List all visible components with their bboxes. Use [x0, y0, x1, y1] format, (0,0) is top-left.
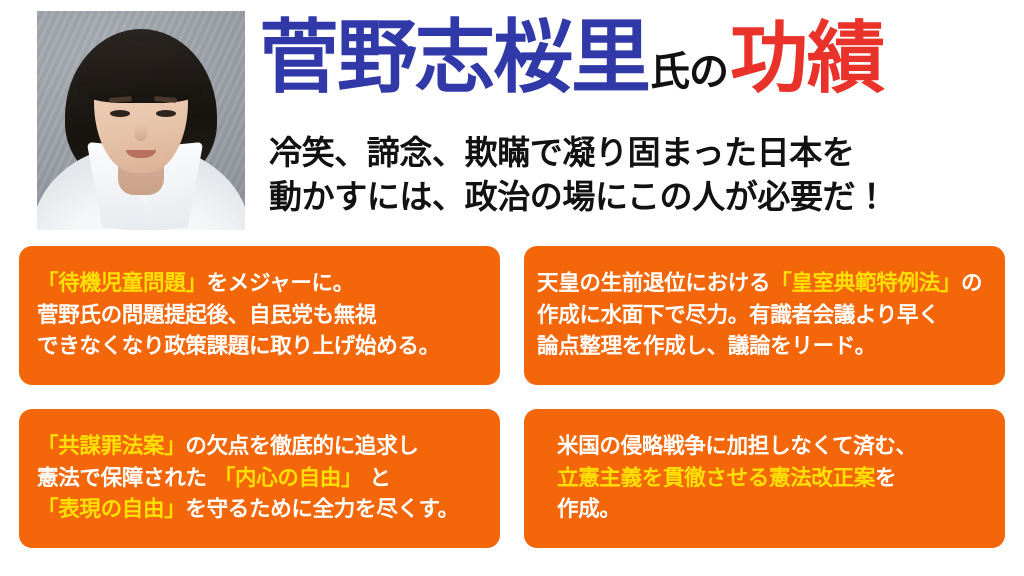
portrait-eye-right — [156, 110, 176, 117]
achievement-card-line: 米国の侵略戦争に加担しなくて済む、 — [557, 431, 917, 463]
card-text-segment: 作成に水面下で尽力。有識者会議より早く — [537, 303, 939, 328]
achievement-card-text: 「待機児童問題」をメジャーに。菅野氏の問題提起後、自民党も無視できなくなり政策課… — [19, 268, 440, 363]
highlighted-phrase: 「共謀罪法案」 — [37, 434, 185, 459]
headline: 菅野志桜里 氏の 功績 — [259, 18, 884, 122]
achievement-card-line: 菅野氏の問題提起後、自民党も無視 — [37, 300, 440, 332]
achievement-card-line: 「共謀罪法案」の欠点を徹底的に追求し — [37, 431, 459, 463]
achievement-card: 天皇の生前退位における「皇室典範特例法」の作成に水面下で尽力。有識者会議より早く… — [524, 246, 1005, 385]
achievement-card-line: 作成。 — [557, 494, 917, 526]
achievement-card-line: 天皇の生前退位における「皇室典範特例法」の — [537, 268, 982, 300]
achievement-card: 「待機児童問題」をメジャーに。菅野氏の問題提起後、自民党も無視できなくなり政策課… — [19, 246, 500, 385]
achievement-card-text: 天皇の生前退位における「皇室典範特例法」の作成に水面下で尽力。有識者会議より早く… — [524, 268, 982, 363]
card-text-segment: の — [961, 271, 982, 296]
card-text-segment: と — [362, 466, 390, 491]
achievement-card-grid: 「待機児童問題」をメジャーに。菅野氏の問題提起後、自民党も無視できなくなり政策課… — [19, 246, 1005, 548]
highlighted-phrase: 「皇室典範特例法」 — [770, 271, 961, 296]
achievement-card-line: 作成に水面下で尽力。有識者会議より早く — [537, 300, 982, 332]
card-text-segment: 菅野氏の問題提起後、自民党も無視 — [37, 303, 376, 328]
headline-honorific: 氏の — [650, 52, 728, 92]
achievement-card-line: 「表現の自由」を守るために全力を尽くす。 — [37, 494, 459, 526]
headline-merit: 功績 — [730, 20, 884, 98]
card-text-segment: を — [875, 466, 896, 491]
portrait-nose — [135, 125, 148, 141]
achievement-card: 「共謀罪法案」の欠点を徹底的に追求し憲法で保障された 「内心の自由」 と「表現の… — [19, 409, 500, 548]
card-text-segment: 憲法で保障された — [37, 466, 214, 491]
highlighted-phrase: 「表現の自由」 — [37, 497, 185, 522]
achievement-card-line: できなくなり政策課題に取り上げ始める。 — [37, 331, 440, 363]
card-text-segment: 作成。 — [557, 497, 621, 522]
achievement-card-text: 米国の侵略戦争に加担しなくて済む、立憲主義を貫徹させる憲法改正案を作成。 — [524, 431, 917, 526]
card-text-segment: 米国の侵略戦争に加担しなくて済む、 — [557, 434, 917, 459]
achievement-card-line: 「待機児童問題」をメジャーに。 — [37, 268, 440, 300]
highlighted-phrase: 立憲主義を貫徹させる憲法改正案 — [557, 466, 875, 491]
achievement-card-text: 「共謀罪法案」の欠点を徹底的に追求し憲法で保障された 「内心の自由」 と「表現の… — [19, 431, 459, 526]
subtitle-line-1: 冷笑、諦念、欺瞞で凝り固まった日本を — [269, 131, 888, 175]
achievement-card-line: 憲法で保障された 「内心の自由」 と — [37, 463, 459, 495]
card-text-segment: の欠点を徹底的に追求し — [185, 434, 418, 459]
headline-name: 菅野志桜里 — [259, 18, 649, 98]
highlighted-phrase: 「待機児童問題」 — [37, 271, 207, 296]
portrait-photo — [37, 11, 245, 230]
achievement-card-line: 論点整理を作成し、議論をリード。 — [537, 331, 982, 363]
card-text-segment: できなくなり政策課題に取り上げ始める。 — [37, 334, 440, 359]
card-text-segment: 論点整理を作成し、議論をリード。 — [537, 334, 876, 359]
portrait-eye-left — [110, 110, 130, 117]
achievement-card: 米国の侵略戦争に加担しなくて済む、立憲主義を貫徹させる憲法改正案を作成。 — [524, 409, 1005, 548]
achievement-card-line: 立憲主義を貫徹させる憲法改正案を — [557, 463, 917, 495]
highlighted-phrase: 「内心の自由」 — [214, 466, 362, 491]
subtitle-line-2: 動かすには、政治の場にこの人が必要だ！ — [269, 175, 888, 219]
subtitle: 冷笑、諦念、欺瞞で凝り固まった日本を 動かすには、政治の場にこの人が必要だ！ — [269, 131, 888, 218]
card-text-segment: を守るために全力を尽くす。 — [185, 497, 458, 522]
card-text-segment: をメジャーに。 — [207, 271, 354, 296]
card-text-segment: 天皇の生前退位における — [537, 271, 770, 296]
